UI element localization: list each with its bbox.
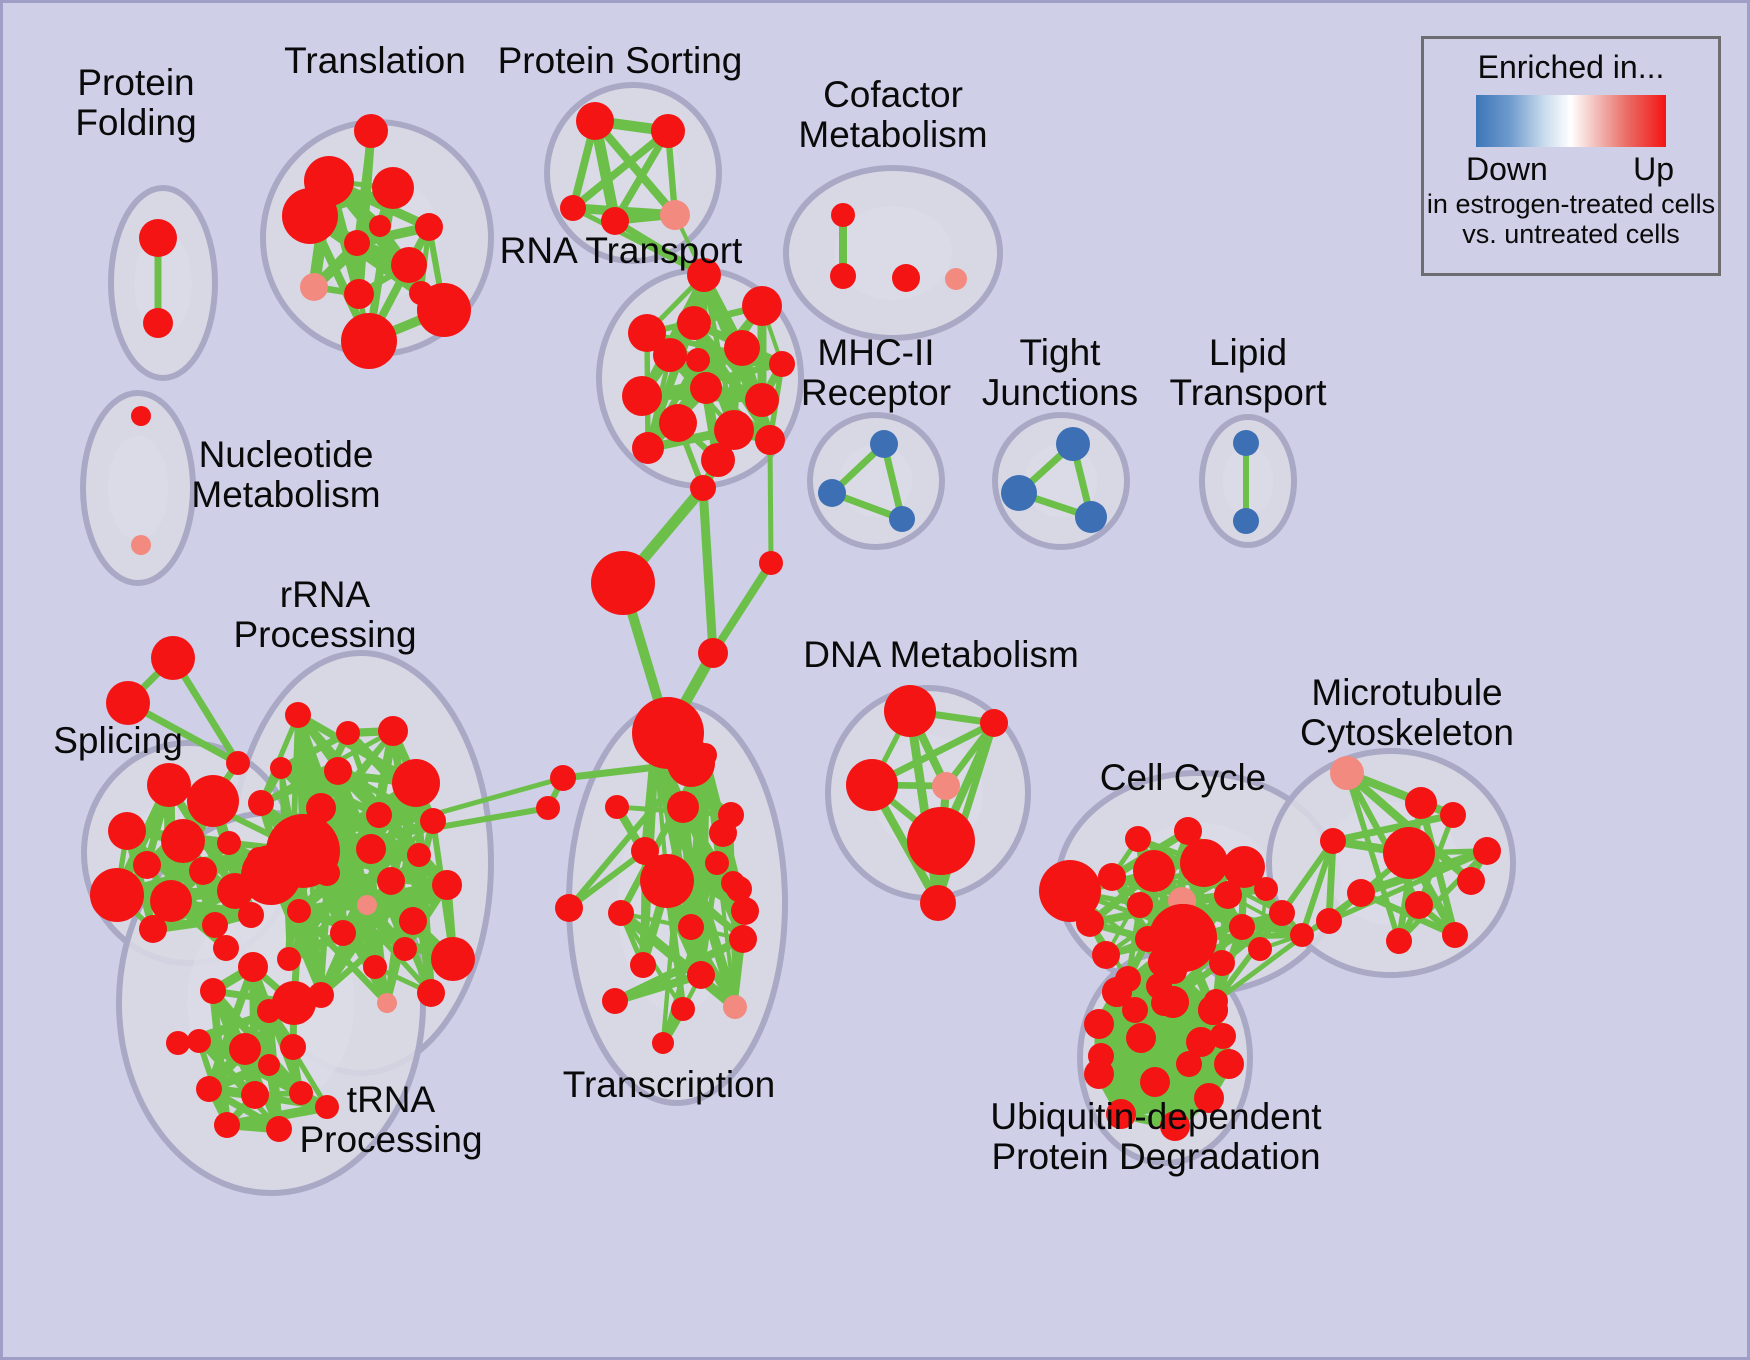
network-node[interactable] bbox=[1140, 1067, 1170, 1097]
network-node[interactable] bbox=[377, 993, 397, 1013]
network-node[interactable] bbox=[755, 425, 785, 455]
network-node[interactable] bbox=[415, 213, 443, 241]
network-node[interactable] bbox=[1383, 827, 1435, 879]
network-node[interactable] bbox=[1405, 891, 1433, 919]
network-node[interactable] bbox=[1248, 937, 1272, 961]
network-node[interactable] bbox=[226, 751, 250, 775]
network-node[interactable] bbox=[344, 230, 370, 256]
network-node[interactable] bbox=[366, 802, 392, 828]
network-node[interactable] bbox=[341, 313, 397, 369]
network-node[interactable] bbox=[652, 1032, 674, 1054]
network-node[interactable] bbox=[742, 286, 782, 326]
network-node[interactable] bbox=[280, 1034, 306, 1060]
network-node[interactable] bbox=[830, 263, 856, 289]
network-node[interactable] bbox=[723, 995, 747, 1019]
network-node[interactable] bbox=[870, 430, 898, 458]
edge bbox=[713, 563, 771, 653]
network-node[interactable] bbox=[605, 795, 629, 819]
network-node[interactable] bbox=[698, 638, 728, 668]
network-node[interactable] bbox=[409, 281, 433, 305]
network-node[interactable] bbox=[282, 188, 338, 244]
network-node[interactable] bbox=[369, 215, 391, 237]
network-node[interactable] bbox=[892, 264, 920, 292]
network-node[interactable] bbox=[721, 871, 745, 895]
network-node[interactable] bbox=[1092, 941, 1120, 969]
network-node[interactable] bbox=[709, 819, 737, 847]
edge bbox=[703, 488, 713, 653]
network-node[interactable] bbox=[687, 961, 715, 989]
network-node[interactable] bbox=[1386, 928, 1412, 954]
network-node[interactable] bbox=[277, 947, 301, 971]
network-node[interactable] bbox=[166, 1031, 190, 1055]
network-node[interactable] bbox=[1233, 508, 1259, 534]
network-node[interactable] bbox=[356, 834, 386, 864]
network-node[interactable] bbox=[407, 843, 431, 867]
network-node[interactable] bbox=[420, 808, 446, 834]
legend-endpoints: Down Up bbox=[1424, 151, 1718, 191]
network-node[interactable] bbox=[1133, 850, 1175, 892]
network-node[interactable] bbox=[372, 167, 414, 209]
network-node[interactable] bbox=[189, 857, 217, 885]
network-node[interactable] bbox=[1440, 802, 1466, 828]
network-node[interactable] bbox=[285, 702, 311, 728]
network-node[interactable] bbox=[705, 851, 729, 875]
network-node[interactable] bbox=[378, 716, 408, 746]
network-node[interactable] bbox=[266, 1116, 292, 1142]
network-node[interactable] bbox=[632, 432, 664, 464]
network-node[interactable] bbox=[1320, 828, 1346, 854]
network-node[interactable] bbox=[1330, 756, 1364, 790]
network-node[interactable] bbox=[1127, 892, 1153, 918]
network-node[interactable] bbox=[1233, 430, 1259, 456]
network-node[interactable] bbox=[659, 404, 697, 442]
network-node[interactable] bbox=[393, 937, 417, 961]
network-node[interactable] bbox=[289, 1081, 313, 1105]
network-node[interactable] bbox=[151, 636, 195, 680]
network-node[interactable] bbox=[200, 978, 226, 1004]
network-node[interactable] bbox=[1194, 1083, 1224, 1113]
network-node[interactable] bbox=[187, 775, 239, 827]
network-node[interactable] bbox=[1198, 995, 1228, 1025]
network-node[interactable] bbox=[238, 902, 264, 928]
network-node[interactable] bbox=[560, 195, 586, 221]
legend-up-label: Up bbox=[1633, 151, 1674, 188]
network-node[interactable] bbox=[131, 535, 151, 555]
network-node[interactable] bbox=[591, 551, 655, 615]
network-node[interactable] bbox=[690, 475, 716, 501]
network-node[interactable] bbox=[300, 273, 328, 301]
network-node[interactable] bbox=[1001, 475, 1037, 511]
network-node[interactable] bbox=[1214, 881, 1242, 909]
network-node[interactable] bbox=[1075, 501, 1107, 533]
network-figure: Protein Folding Translation Protein Sort… bbox=[0, 0, 1750, 1360]
network-node[interactable] bbox=[769, 351, 795, 377]
network-node[interactable] bbox=[550, 765, 576, 791]
network-node[interactable] bbox=[1290, 923, 1314, 947]
network-node[interactable] bbox=[1084, 1009, 1114, 1039]
network-node[interactable] bbox=[287, 899, 311, 923]
network-node[interactable] bbox=[846, 759, 898, 811]
network-node[interactable] bbox=[1347, 879, 1375, 907]
network-node[interactable] bbox=[555, 894, 583, 922]
network-node[interactable] bbox=[640, 854, 694, 908]
network-node[interactable] bbox=[576, 102, 614, 140]
network-node[interactable] bbox=[729, 925, 757, 953]
network-node[interactable] bbox=[1056, 427, 1090, 461]
network-node[interactable] bbox=[238, 952, 268, 982]
network-node[interactable] bbox=[907, 807, 975, 875]
network-node[interactable] bbox=[608, 900, 634, 926]
network-node[interactable] bbox=[131, 406, 151, 426]
network-node[interactable] bbox=[417, 979, 445, 1007]
network-node[interactable] bbox=[818, 479, 846, 507]
network-node[interactable] bbox=[139, 915, 167, 943]
network-node[interactable] bbox=[357, 895, 377, 915]
network-node[interactable] bbox=[1157, 986, 1189, 1018]
network-node[interactable] bbox=[187, 1029, 211, 1053]
network-node[interactable] bbox=[601, 207, 629, 235]
network-node[interactable] bbox=[1457, 867, 1485, 895]
network-node[interactable] bbox=[1176, 1051, 1202, 1077]
network-node[interactable] bbox=[1098, 863, 1126, 891]
legend-box: Enriched in... Down Up in estrogen-treat… bbox=[1421, 36, 1721, 276]
network-node[interactable] bbox=[671, 997, 695, 1021]
network-node[interactable] bbox=[1180, 839, 1228, 887]
network-node[interactable] bbox=[1229, 914, 1255, 940]
network-node[interactable] bbox=[1269, 900, 1295, 926]
network-node[interactable] bbox=[660, 200, 690, 230]
network-node[interactable] bbox=[241, 1081, 269, 1109]
network-node[interactable] bbox=[1125, 826, 1151, 852]
network-node[interactable] bbox=[336, 721, 360, 745]
network-node[interactable] bbox=[315, 1095, 339, 1119]
network-node[interactable] bbox=[266, 814, 340, 888]
network-node[interactable] bbox=[202, 912, 228, 938]
cluster-hulls bbox=[83, 85, 1513, 1193]
network-node[interactable] bbox=[354, 114, 388, 148]
network-node[interactable] bbox=[1254, 877, 1278, 901]
network-node[interactable] bbox=[399, 907, 427, 935]
network-node[interactable] bbox=[214, 1112, 240, 1138]
network-node[interactable] bbox=[701, 443, 735, 477]
network-node[interactable] bbox=[651, 114, 685, 148]
network-node[interactable] bbox=[248, 790, 274, 816]
network-node[interactable] bbox=[1076, 909, 1104, 937]
legend-down-label: Down bbox=[1466, 151, 1548, 188]
network-node[interactable] bbox=[653, 338, 687, 372]
network-node[interactable] bbox=[1102, 977, 1132, 1007]
network-node[interactable] bbox=[980, 709, 1008, 737]
legend-color-bar bbox=[1476, 95, 1666, 147]
network-node[interactable] bbox=[377, 867, 405, 895]
network-node[interactable] bbox=[139, 219, 177, 257]
cluster-hull-inner-nucleotide-metabolism bbox=[108, 436, 169, 541]
network-node[interactable] bbox=[391, 247, 427, 283]
network-node[interactable] bbox=[831, 203, 855, 227]
legend-caption-line2: vs. untreated cells bbox=[1424, 219, 1718, 251]
network-node[interactable] bbox=[147, 763, 191, 807]
legend-title: Enriched in... bbox=[1424, 49, 1718, 86]
network-node[interactable] bbox=[392, 759, 440, 807]
network-node[interactable] bbox=[677, 306, 711, 340]
network-node[interactable] bbox=[363, 955, 387, 979]
network-node[interactable] bbox=[258, 1054, 280, 1076]
network-node[interactable] bbox=[1160, 1111, 1190, 1141]
network-node[interactable] bbox=[1126, 1023, 1156, 1053]
network-node[interactable] bbox=[724, 330, 760, 366]
network-node[interactable] bbox=[1106, 1099, 1136, 1129]
network-node[interactable] bbox=[133, 851, 161, 879]
network-node[interactable] bbox=[686, 348, 710, 372]
network-node[interactable] bbox=[1210, 1023, 1236, 1049]
network-node[interactable] bbox=[932, 772, 960, 800]
network-node[interactable] bbox=[745, 383, 779, 417]
network-node[interactable] bbox=[1473, 837, 1501, 865]
network-node[interactable] bbox=[884, 685, 936, 737]
network-node[interactable] bbox=[602, 988, 628, 1014]
network-node[interactable] bbox=[229, 1033, 261, 1065]
network-node[interactable] bbox=[945, 268, 967, 290]
legend-caption-line1: in estrogen-treated cells bbox=[1424, 189, 1718, 221]
network-node[interactable] bbox=[270, 757, 292, 779]
network-node[interactable] bbox=[667, 739, 715, 787]
network-node[interactable] bbox=[161, 819, 205, 863]
network-node[interactable] bbox=[667, 791, 699, 823]
network-node[interactable] bbox=[1405, 787, 1437, 819]
network-node[interactable] bbox=[889, 506, 915, 532]
network-node[interactable] bbox=[143, 308, 173, 338]
network-node[interactable] bbox=[108, 812, 146, 850]
network-node[interactable] bbox=[678, 914, 704, 940]
network-node[interactable] bbox=[196, 1076, 222, 1102]
network-node[interactable] bbox=[920, 885, 956, 921]
network-node[interactable] bbox=[1442, 922, 1468, 948]
network-node[interactable] bbox=[330, 920, 356, 946]
network-node[interactable] bbox=[1148, 947, 1178, 977]
network-node[interactable] bbox=[324, 757, 352, 785]
network-node[interactable] bbox=[1214, 1049, 1244, 1079]
network-node[interactable] bbox=[1088, 1043, 1114, 1069]
network-node[interactable] bbox=[90, 868, 144, 922]
network-node[interactable] bbox=[213, 935, 239, 961]
network-node[interactable] bbox=[344, 279, 374, 309]
network-node[interactable] bbox=[272, 981, 316, 1025]
network-node[interactable] bbox=[687, 258, 721, 292]
network-node[interactable] bbox=[106, 681, 150, 725]
network-node[interactable] bbox=[690, 372, 722, 404]
network-node[interactable] bbox=[432, 870, 462, 900]
network-node[interactable] bbox=[759, 551, 783, 575]
network-node[interactable] bbox=[622, 376, 662, 416]
edge bbox=[770, 440, 771, 563]
network-node[interactable] bbox=[431, 937, 475, 981]
network-node[interactable] bbox=[536, 796, 560, 820]
network-node[interactable] bbox=[217, 831, 241, 855]
network-node[interactable] bbox=[731, 897, 759, 925]
network-node[interactable] bbox=[630, 952, 656, 978]
network-node[interactable] bbox=[1316, 908, 1342, 934]
